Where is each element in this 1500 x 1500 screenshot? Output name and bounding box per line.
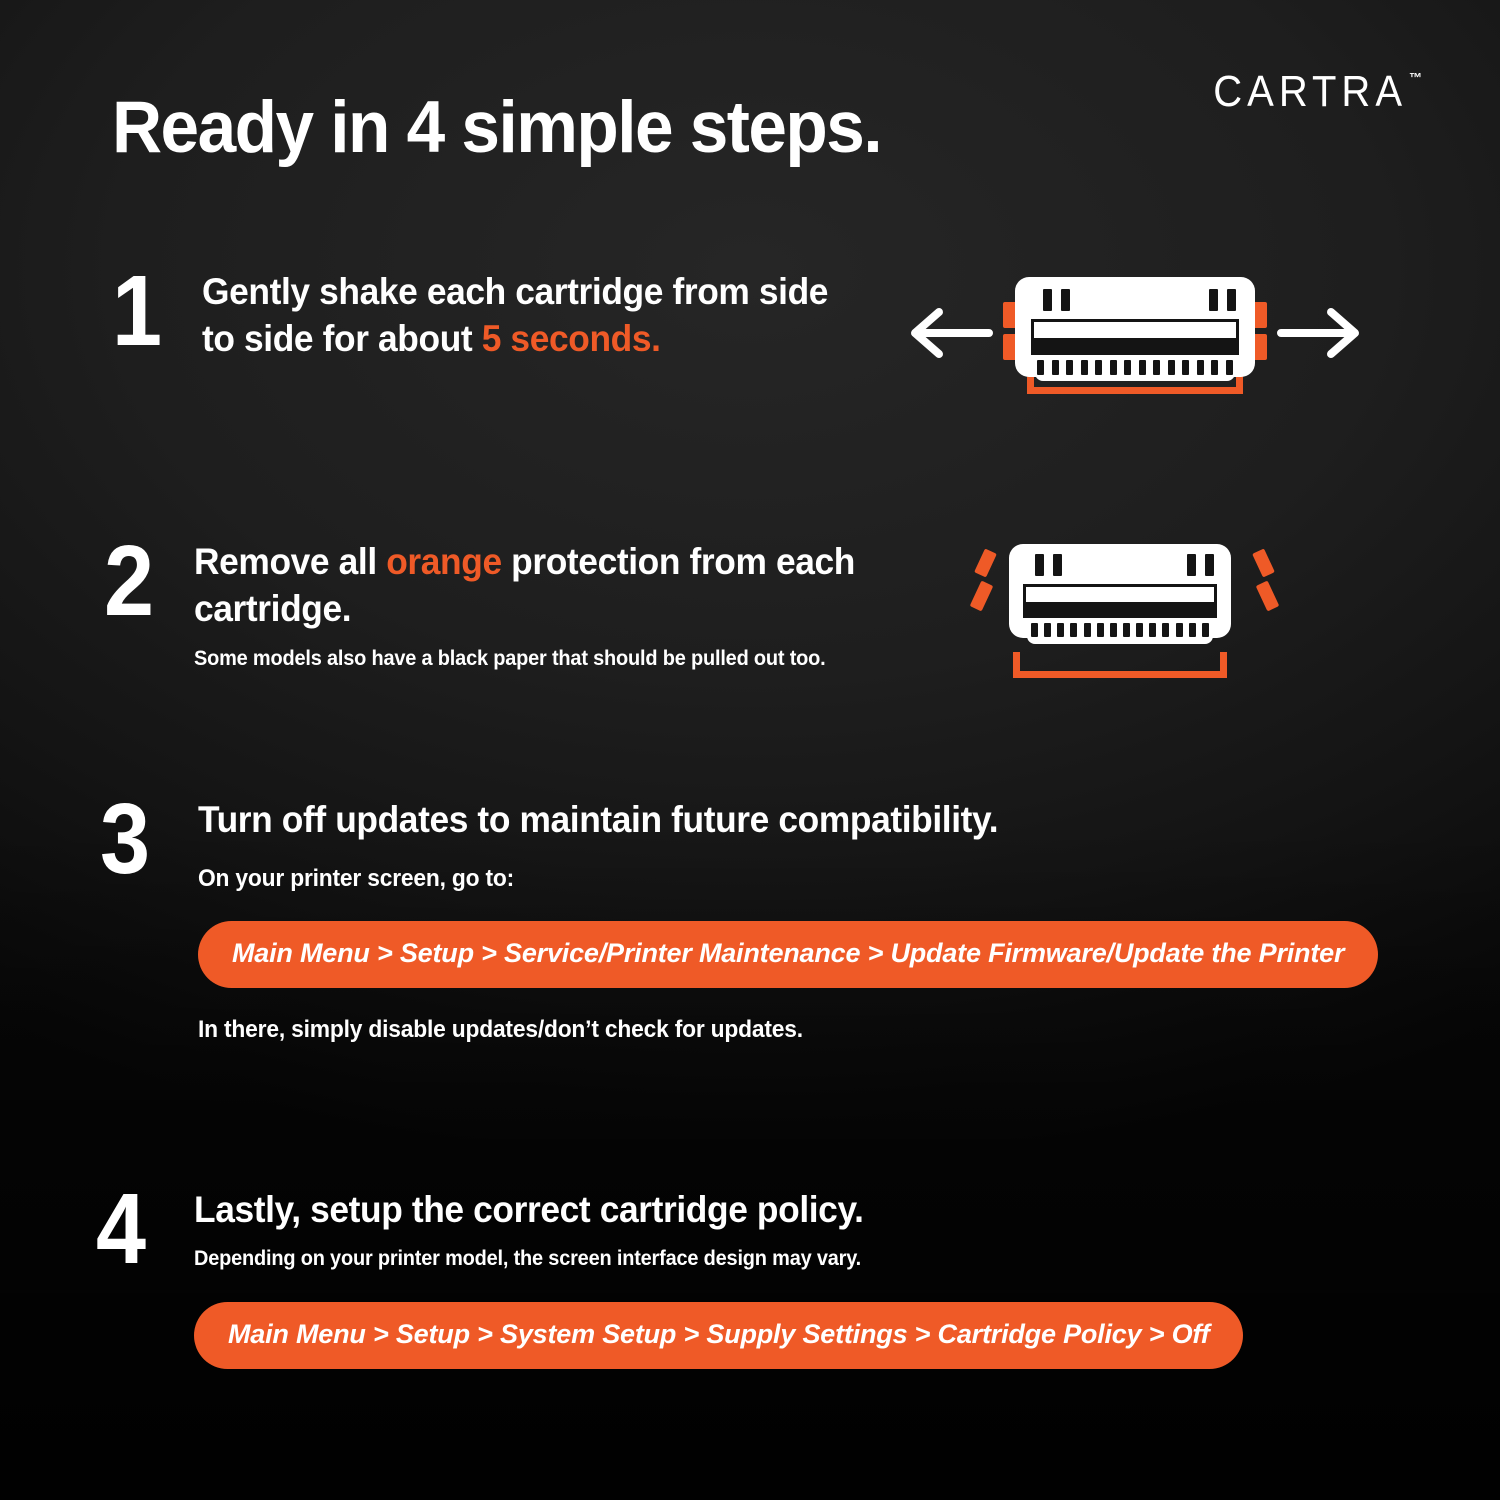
step-4-title: Lastly, setup the correct cartridge poli… [194, 1186, 1361, 1233]
trademark-symbol: ™ [1409, 70, 1422, 85]
cartridge-label [1031, 319, 1239, 355]
step-4-menu-path-pill[interactable]: Main Menu > Setup > System Setup > Suppl… [194, 1302, 1243, 1369]
step-4-number: 4 [96, 1186, 184, 1369]
orange-tab-detached-right-top [1252, 548, 1275, 577]
step-3-title: Turn off updates to maintain future comp… [198, 796, 1365, 843]
step-2-number: 2 [104, 538, 185, 673]
step-3-outro: In there, simply disable updates/don’t c… [198, 1016, 1359, 1044]
step-4: 4 Lastly, setup the correct cartridge po… [96, 1186, 1416, 1369]
brand-logo: CARTRA ™ [1213, 68, 1422, 113]
cartridge-vent-slot [1187, 554, 1196, 576]
orange-tab-detached-right-bottom [1256, 581, 1280, 612]
step-1-title-accent: 5 seconds. [482, 318, 661, 359]
step-1: 1 Gently shake each cartridge from side … [112, 268, 872, 363]
step-3: 3 Turn off updates to maintain future co… [100, 796, 1420, 1044]
step-2: 2 Remove all orange protection from each… [104, 538, 934, 673]
cartridge-vent-slot [1035, 554, 1044, 576]
step-2-subtext: Some models also have a black paper that… [194, 645, 897, 673]
infographic-page: CARTRA ™ Ready in 4 simple steps. 1 Gent… [0, 0, 1500, 1500]
arrow-left-icon [905, 306, 993, 360]
orange-tab-detached-left-top [974, 548, 997, 577]
brand-logo-text: CARTRA [1213, 68, 1407, 117]
orange-tab-detached-left-bottom [970, 581, 994, 612]
cartridge-vent-slot [1043, 289, 1052, 311]
step-4-subtext: Depending on your printer model, the scr… [194, 1245, 1355, 1273]
orange-tab-right-top [1253, 302, 1267, 328]
step-1-title: Gently shake each cartridge from side to… [202, 268, 842, 363]
step-3-menu-path-pill[interactable]: Main Menu > Setup > Service/Printer Main… [198, 921, 1378, 988]
orange-bottom-bracket-detached [1013, 652, 1227, 678]
cartridge-vent-slot [1061, 289, 1070, 311]
step-2-title: Remove all orange protection from each c… [194, 538, 901, 633]
cartridge-label-band [1034, 338, 1236, 352]
cartridge-vent-slot [1227, 289, 1236, 311]
step-3-number: 3 [100, 796, 188, 1044]
cartridge-contact-teeth [1031, 623, 1209, 637]
step-3-intro: On your printer screen, go to: [198, 865, 1359, 893]
cartridge-vent-slot [1053, 554, 1062, 576]
step-1-number: 1 [112, 268, 193, 363]
orange-tab-right-bottom [1253, 334, 1267, 360]
cartridge-shake-illustration [905, 262, 1365, 402]
arrow-right-icon [1277, 306, 1365, 360]
cartridge-contact-teeth [1037, 360, 1233, 375]
cartridge-label [1023, 584, 1217, 618]
cartridge-vent-slot [1205, 554, 1214, 576]
page-title: Ready in 4 simple steps. [112, 90, 881, 166]
step-2-title-text: Remove all [194, 541, 386, 582]
cartridge-label-band [1026, 602, 1214, 615]
cartridge-vent-slot [1209, 289, 1218, 311]
step-2-title-accent: orange [386, 541, 502, 582]
cartridge-remove-protection-illustration [965, 530, 1285, 690]
